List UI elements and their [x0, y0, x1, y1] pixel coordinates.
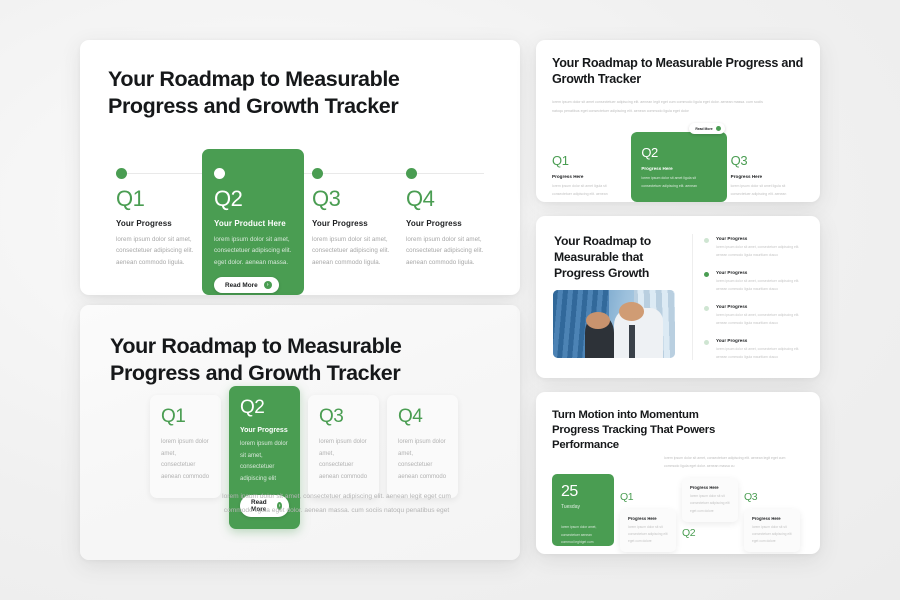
quarter-card-body: lorem ipsum dolor sit sit consectetuer a…: [628, 524, 668, 546]
list-item-title: Your Progress: [716, 270, 806, 275]
quarter-label: Q2: [214, 188, 292, 210]
quarter-group-q1[interactable]: Q1 Progress Here lorem ipsum dolor sit s…: [620, 492, 676, 552]
slide-roadmap-timeline[interactable]: Your Roadmap to Measurable Progress and …: [80, 40, 520, 295]
timeline-item-q1[interactable]: Q1 Your Progress lorem ipsum dolor sit a…: [108, 165, 202, 295]
quarter-group-q2[interactable]: Progress Here lorem ipsum dolor sit sit …: [682, 478, 738, 538]
quarter-card-title: Progress Here: [690, 485, 730, 490]
milestone-dot-icon: [406, 168, 417, 179]
slide-a-timeline: Q1 Your Progress lorem ipsum dolor sit a…: [108, 165, 492, 295]
arrow-right-icon: [716, 126, 721, 131]
milestone-dot-icon: [214, 168, 225, 179]
slide-b-heading: Your Roadmap to Measurable Progress and …: [110, 333, 490, 386]
quarter-body: lorem ipsum dolor sit amet, consectetuer…: [406, 234, 484, 268]
list-item[interactable]: Your Progress lorem ipsum dolor sit amet…: [704, 236, 806, 260]
quarter-card[interactable]: Progress Here lorem ipsum dolor sit sit …: [682, 478, 738, 522]
quarter-body: lorem ipsum dolor sit amet, consectetuer…: [312, 234, 390, 268]
quarter-label: Q3: [744, 492, 800, 503]
quarter-card[interactable]: Progress Here lorem ipsum dolor sit sit …: [744, 509, 800, 553]
quarter-label: Q3: [319, 407, 368, 426]
date-number: 25: [561, 484, 605, 500]
list-item[interactable]: Your Progress lorem ipsum dolor sit amet…: [704, 338, 806, 362]
slide-c-quarter-row: Q1 Progress Here lorem ipsum dolor sit a…: [552, 132, 806, 202]
list-item-title: Your Progress: [716, 304, 806, 309]
quarter-group-q3[interactable]: Q3 Progress Here lorem ipsum dolor sit s…: [744, 492, 800, 552]
date-highlight-box[interactable]: 25 Tuesday lorem ipsum dolor amet, conse…: [552, 474, 614, 546]
read-more-button[interactable]: Read More ›: [214, 277, 279, 293]
read-more-label: Read More: [225, 282, 258, 289]
read-more-label: Read More: [695, 127, 712, 131]
quarter-label: Q2: [240, 398, 289, 417]
quarter-label: Q4: [398, 407, 447, 426]
milestone-dot-icon: [116, 168, 127, 179]
date-body: lorem ipsum dolor amet, consectetuer aen…: [561, 524, 605, 547]
quarter-subtitle: Your Product Here: [214, 219, 292, 228]
slide-c-paragraph: lorem ipsum dolor sit amet consectetuer …: [552, 98, 767, 116]
quarter-label: Q2: [641, 146, 716, 159]
quarter-subtitle: Progress Here: [731, 174, 806, 179]
read-more-badge[interactable]: Read More: [689, 123, 724, 134]
quarter-card[interactable]: Progress Here lorem ipsum dolor sit sit …: [620, 509, 676, 553]
list-item[interactable]: Your Progress lorem ipsum dolor sit amet…: [704, 304, 806, 328]
slide-e-heading: Turn Motion into Momentum Progress Track…: [552, 408, 742, 452]
list-item-title: Your Progress: [716, 236, 806, 241]
quarter-label: Q1: [161, 407, 210, 426]
quarter-subtitle: Progress Here: [552, 174, 627, 179]
vertical-divider: [692, 234, 693, 360]
timeline-item-q2[interactable]: Q2 Your Product Here lorem ipsum dolor s…: [202, 149, 304, 295]
bullet-dot-icon: [704, 272, 709, 277]
quarter-card-body: lorem ipsum dolor sit sit consectetuer a…: [752, 524, 792, 546]
arrow-right-icon: ›: [264, 281, 272, 289]
business-people-photo: [553, 290, 675, 358]
quarter-label: Q1: [620, 492, 676, 503]
quarter-card-q1[interactable]: Q1 lorem ipsum dolor amet, consectetuer …: [150, 395, 221, 498]
quarter-body: lorem ipsum dolor sit amet, consectetuer…: [240, 439, 289, 486]
quarter-block-q2[interactable]: Read More Q2 Progress Here lorem ipsum d…: [631, 132, 726, 202]
list-item-body: lorem ipsum dolor sit amet, consectetuer…: [716, 244, 806, 260]
quarter-block-q1[interactable]: Q1 Progress Here lorem ipsum dolor sit a…: [552, 132, 627, 198]
quarter-card-title: Progress Here: [628, 516, 668, 521]
progress-list: Your Progress lorem ipsum dolor sit amet…: [704, 236, 806, 373]
quarter-body: lorem ipsum dolor sit amet, consectetuer…: [214, 234, 292, 268]
timeline-item-q4[interactable]: Q4 Your Progress lorem ipsum dolor sit a…: [398, 165, 492, 295]
quarter-body: lorem ipsum dolor amet, consectetuer aen…: [161, 437, 210, 484]
list-item[interactable]: Your Progress lorem ipsum dolor sit amet…: [704, 270, 806, 294]
slide-b-caption: lorem ipsum dolor sit amet, consectetuer…: [215, 490, 458, 518]
quarter-label: Q1: [116, 188, 194, 210]
quarter-label: Q3: [731, 154, 806, 167]
list-item-body: lorem ipsum dolor sit amet, consectetuer…: [716, 312, 806, 328]
quarter-subtitle: Your Progress: [116, 219, 194, 228]
bullet-dot-icon: [704, 238, 709, 243]
list-item-body: lorem ipsum dolor sit amet, consectetuer…: [716, 346, 806, 362]
slide-roadmap-cards[interactable]: Your Roadmap to Measurable Progress and …: [80, 305, 520, 560]
quarter-block-q3[interactable]: Q3 Progress Here lorem ipsum dolor sit a…: [731, 132, 806, 198]
quarter-body: lorem ipsum dolor sit amet ligula sit co…: [552, 183, 627, 198]
quarter-body: lorem ipsum dolor sit amet ligula sit co…: [641, 175, 716, 190]
quarter-subtitle: Your Progress: [240, 427, 289, 434]
quarter-label: Q2: [682, 528, 738, 539]
quarter-label: Q3: [312, 188, 390, 210]
slide-a-heading: Your Roadmap to Measurable Progress and …: [108, 66, 492, 119]
date-day: Tuesday: [561, 504, 605, 510]
quarter-subtitle: Your Progress: [406, 219, 484, 228]
quarter-body: lorem ipsum dolor amet, consectetuer aen…: [319, 437, 368, 484]
milestone-dot-icon: [312, 168, 323, 179]
list-item-body: lorem ipsum dolor sit amet, consectetuer…: [716, 278, 806, 294]
quarter-card-q3[interactable]: Q3 lorem ipsum dolor amet, consectetuer …: [308, 395, 379, 498]
timeline-item-q3[interactable]: Q3 Your Progress lorem ipsum dolor sit a…: [304, 165, 398, 295]
quarter-card-q4[interactable]: Q4 lorem ipsum dolor amet, consectetuer …: [387, 395, 458, 498]
quarter-body: lorem ipsum dolor sit amet ligula sit co…: [731, 183, 806, 198]
quarter-body: lorem ipsum dolor sit amet, consectetuer…: [116, 234, 194, 268]
slide-three-quarter[interactable]: Your Roadmap to Measurable Progress and …: [536, 40, 820, 202]
photo-necktie: [629, 325, 635, 358]
slide-momentum-tracking[interactable]: Turn Motion into Momentum Progress Track…: [536, 392, 820, 554]
quarter-card-title: Progress Here: [752, 516, 792, 521]
quarter-label: Q1: [552, 154, 627, 167]
quarter-subtitle: Progress Here: [641, 166, 716, 171]
bullet-dot-icon: [704, 340, 709, 345]
slide-d-heading: Your Roadmap to Measurable that Progress…: [554, 234, 674, 282]
quarter-card-body: lorem ipsum dolor sit sit consectetuer a…: [690, 493, 730, 515]
slide-e-paragraph: lorem ipsum dolor sit amet, consectetuer…: [664, 454, 798, 471]
slide-c-heading: Your Roadmap to Measurable Progress and …: [552, 56, 804, 88]
quarter-label: Q4: [406, 188, 484, 210]
bullet-dot-icon: [704, 306, 709, 311]
quarter-body: lorem ipsum dolor amet, consectetuer aen…: [398, 437, 447, 484]
quarter-subtitle: Your Progress: [312, 219, 390, 228]
list-item-title: Your Progress: [716, 338, 806, 343]
presentation-preview-canvas: Your Roadmap to Measurable Progress and …: [0, 0, 900, 600]
slide-photo-list[interactable]: Your Roadmap to Measurable that Progress…: [536, 216, 820, 378]
